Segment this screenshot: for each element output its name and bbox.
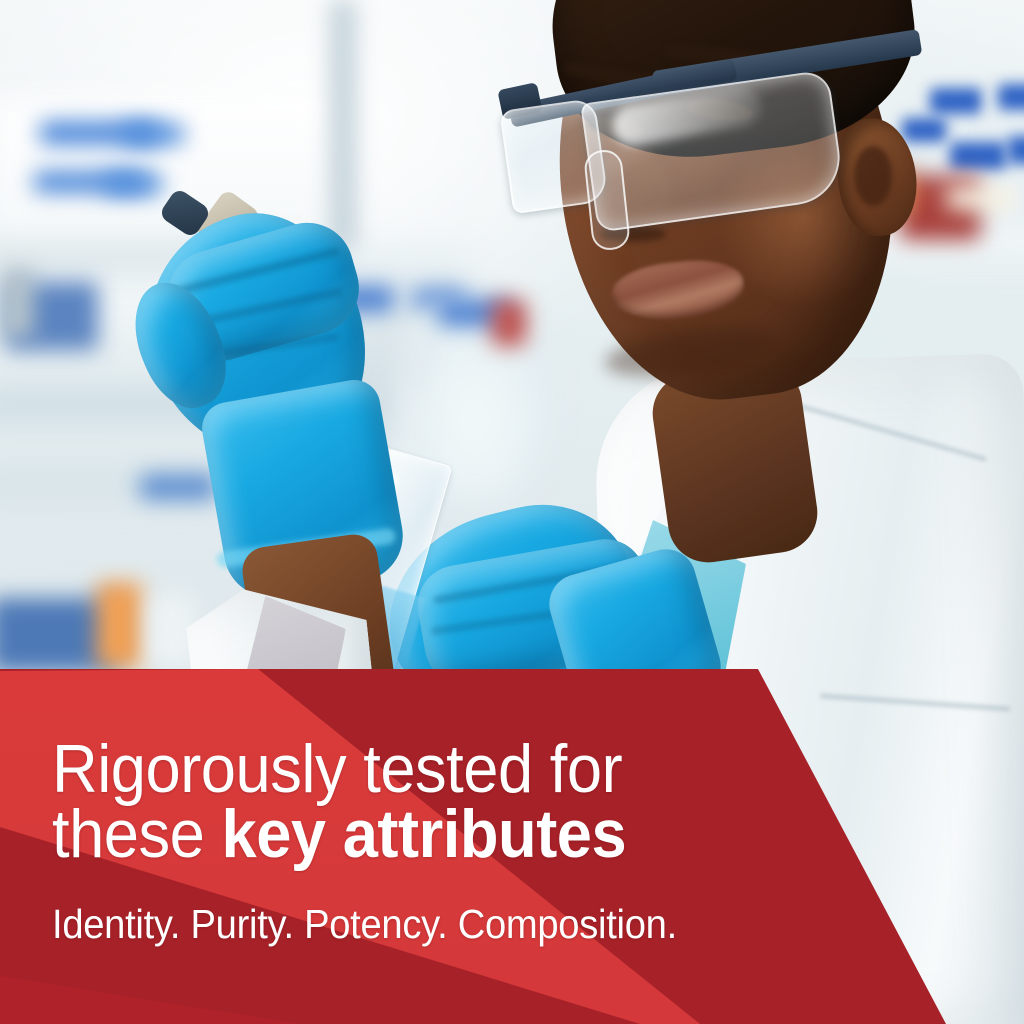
- bottle-cap-right-1: [930, 88, 982, 114]
- ear-inner: [854, 146, 892, 206]
- bottle-orange-low: [96, 582, 142, 668]
- bin-grey-left: [0, 268, 34, 338]
- bottle-cap-right-3: [902, 118, 946, 142]
- bottle-cap-right-4: [950, 142, 1006, 170]
- equipment-rack: [330, 0, 356, 250]
- subline-attributes: Identity. Purity. Potency. Composition.: [52, 901, 677, 948]
- poster-root: Rigorously tested for these key attribut…: [0, 0, 1024, 1024]
- cabinet-label-blue-2: [122, 124, 184, 144]
- cabinet-label-blue-4: [104, 174, 162, 194]
- reagent-red-center: [492, 300, 526, 346]
- banner-text-block: Rigorously tested for these key attribut…: [0, 669, 1024, 1024]
- headline-line-1: Rigorously tested for: [52, 737, 703, 802]
- headline: Rigorously tested for these key attribut…: [52, 737, 752, 868]
- headline-line-2: these key attributes: [52, 802, 703, 867]
- label-card-right: [946, 186, 1016, 210]
- bottle-cap-right-5: [1008, 136, 1024, 164]
- headline-line-2-light: these: [52, 796, 221, 872]
- bottle-cap-right-2: [998, 84, 1024, 110]
- label-blue-low: [140, 474, 216, 500]
- headline-line-2-bold: key attributes: [221, 796, 626, 872]
